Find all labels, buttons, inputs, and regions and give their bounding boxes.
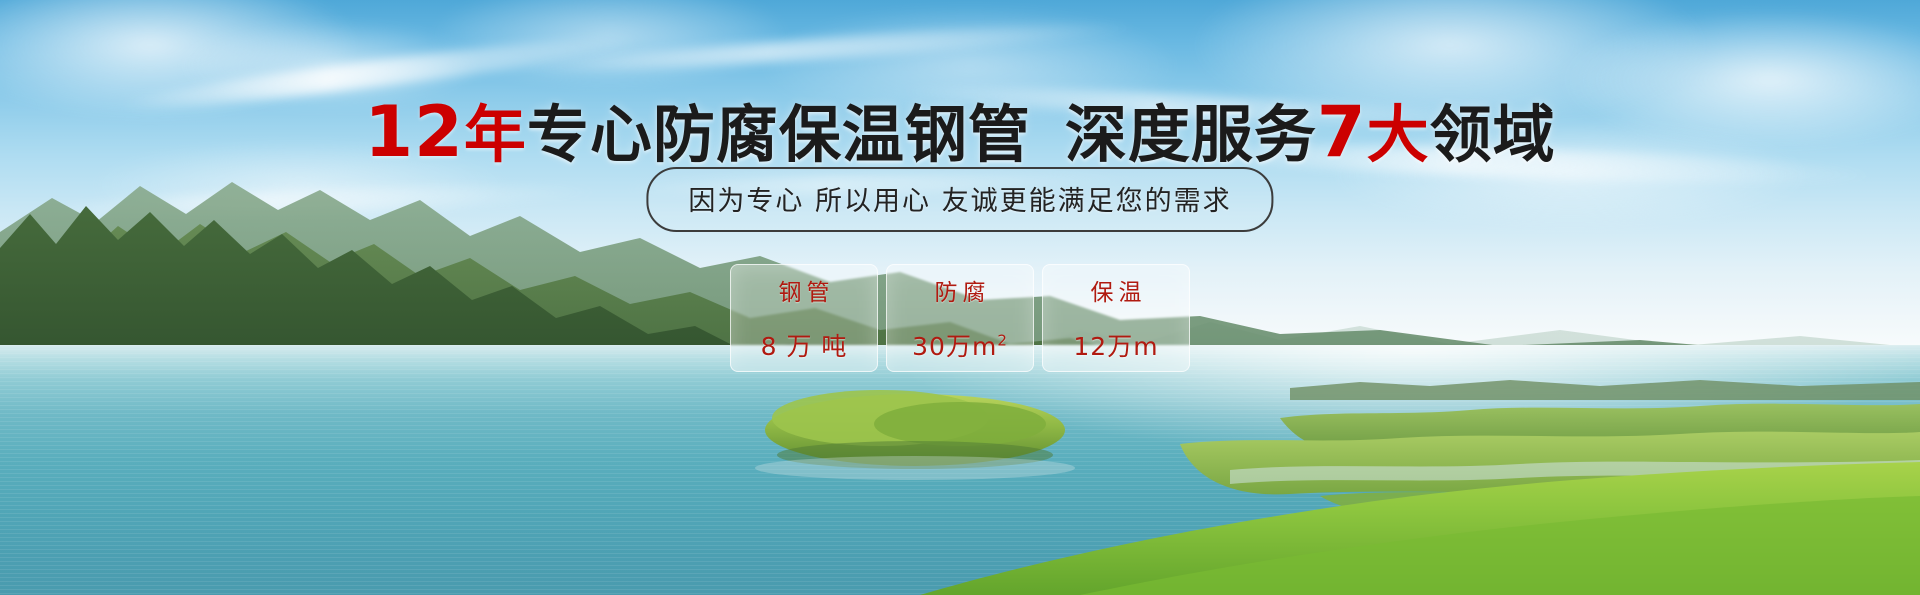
stat-card-value-text: 30万m bbox=[912, 332, 997, 361]
headline-service-phrase: 深度服务 bbox=[1065, 98, 1317, 171]
stat-card-value-sup: 2 bbox=[997, 332, 1008, 350]
stat-card-value-text: 12万m bbox=[1073, 332, 1158, 361]
stat-card-group: 钢管 8 万 吨 防腐 30万m2 保温 12万m bbox=[730, 264, 1190, 372]
stat-card-label: 保温 bbox=[1086, 273, 1147, 307]
stat-card-value: 12万m bbox=[1073, 327, 1158, 363]
stat-card-steel-pipe[interactable]: 钢管 8 万 吨 bbox=[730, 264, 878, 372]
headline-fields-number: 7 bbox=[1317, 91, 1367, 173]
stat-card-label: 钢管 bbox=[774, 273, 835, 307]
stat-card-insulation[interactable]: 保温 12万m bbox=[1042, 264, 1190, 372]
subtitle-pill: 因为专心 所以用心 友诚更能满足您的需求 bbox=[646, 167, 1273, 232]
page-title: 12年专心防腐保温钢管深度服务7大领域 bbox=[0, 84, 1920, 174]
banner-content: 12年专心防腐保温钢管深度服务7大领域 因为专心 所以用心 友诚更能满足您的需求… bbox=[0, 0, 1920, 595]
headline-years-number: 12 bbox=[364, 91, 463, 173]
hero-banner: 12年专心防腐保温钢管深度服务7大领域 因为专心 所以用心 友诚更能满足您的需求… bbox=[0, 0, 1920, 595]
headline-years-unit: 年 bbox=[464, 98, 527, 171]
headline-fields-word: 领域 bbox=[1430, 98, 1556, 171]
stat-card-label: 防腐 bbox=[930, 273, 991, 307]
stat-card-value: 30万m2 bbox=[912, 327, 1008, 363]
stat-card-value-text: 8 万 吨 bbox=[761, 332, 848, 361]
headline-main-phrase: 专心防腐保温钢管 bbox=[527, 98, 1031, 171]
stat-card-anticorrosion[interactable]: 防腐 30万m2 bbox=[886, 264, 1034, 372]
stat-card-value: 8 万 吨 bbox=[761, 327, 848, 363]
headline-fields-unit: 大 bbox=[1367, 98, 1430, 171]
